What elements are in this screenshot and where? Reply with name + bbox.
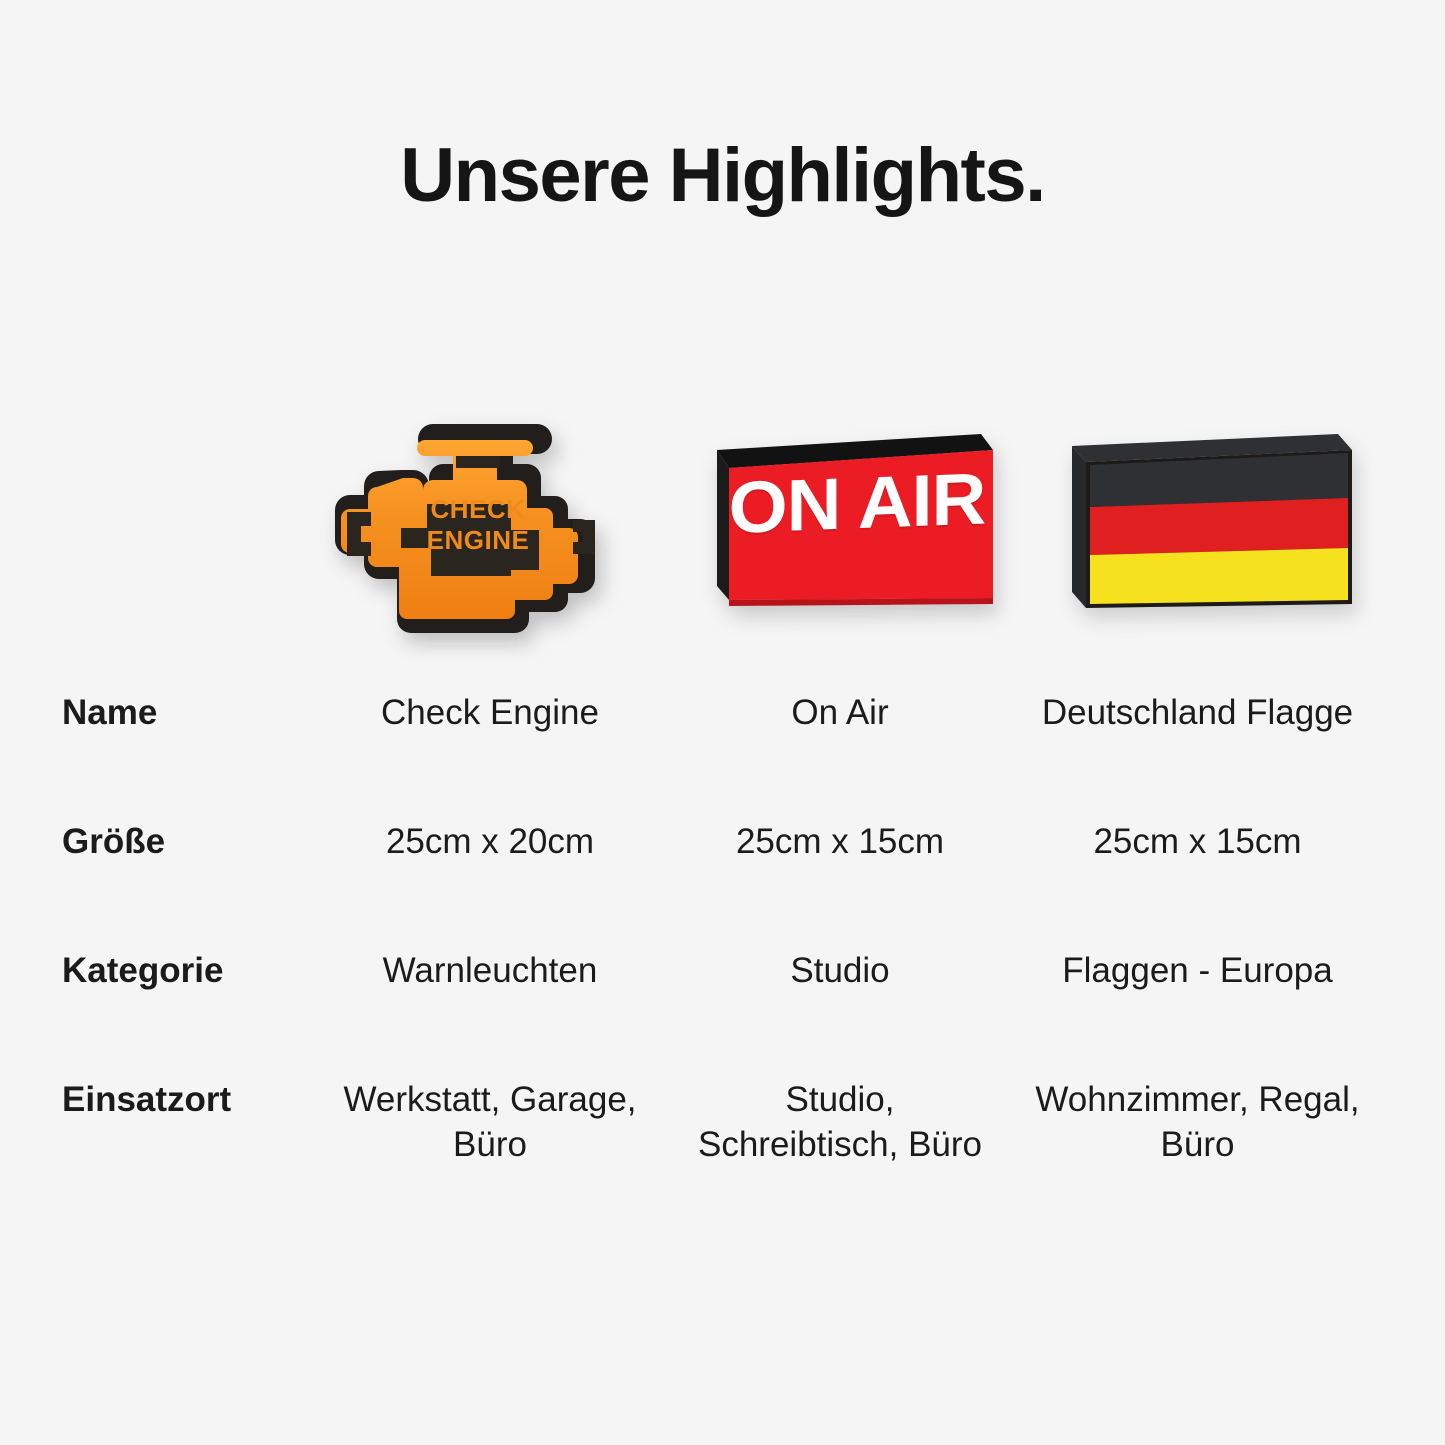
flag-band-gold xyxy=(1090,548,1348,604)
row-value-einsatzort-on-air: Studio, Schreibtisch, Büro xyxy=(690,1077,990,1167)
row-value-name-check-engine: Check Engine xyxy=(330,690,650,735)
row-value-groesse-on-air: 25cm x 15cm xyxy=(690,819,990,864)
germany-flag-box-shape xyxy=(1050,420,1360,630)
row-value-groesse-deutschland-flagge: 25cm x 15cm xyxy=(1020,819,1375,864)
check-engine-lamp-icon: CHECK ENGINE xyxy=(323,408,633,633)
product-image-on-air[interactable]: ON AIR xyxy=(665,400,1015,660)
flag-band-red xyxy=(1090,498,1348,555)
on-air-box-shape xyxy=(685,422,995,627)
table-row-kategorie: Kategorie Warnleuchten Studio Flaggen - … xyxy=(0,948,1445,1077)
row-value-groesse-check-engine: 25cm x 20cm xyxy=(330,819,650,864)
check-engine-shape xyxy=(323,408,633,633)
product-image-row: CHECK ENGINE ON AIR xyxy=(0,400,1445,660)
on-air-lightbox-icon: ON AIR xyxy=(685,422,995,627)
highlights-page: Unsere Highlights. xyxy=(0,0,1445,1445)
row-value-kategorie-check-engine: Warnleuchten xyxy=(330,948,650,993)
product-image-check-engine[interactable]: CHECK ENGINE xyxy=(315,400,665,660)
product-image-deutschland-flagge[interactable] xyxy=(1020,400,1370,660)
table-row-name: Name Check Engine On Air Deutschland Fla… xyxy=(0,690,1445,819)
row-value-einsatzort-check-engine: Werkstatt, Garage, Büro xyxy=(330,1077,650,1167)
row-label-einsatzort: Einsatzort xyxy=(62,1077,362,1122)
row-label-groesse: Größe xyxy=(62,819,362,864)
row-label-kategorie: Kategorie xyxy=(62,948,362,993)
flag-box-left-face xyxy=(1072,446,1086,608)
row-value-kategorie-on-air: Studio xyxy=(690,948,990,993)
germany-flag-lightbox-icon xyxy=(1050,420,1360,630)
table-row-einsatzort: Einsatzort Werkstatt, Garage, Büro Studi… xyxy=(0,1077,1445,1247)
row-label-name: Name xyxy=(62,690,362,735)
row-value-name-deutschland-flagge: Deutschland Flagge xyxy=(1020,690,1375,735)
row-value-einsatzort-deutschland-flagge: Wohnzimmer, Regal, Büro xyxy=(1020,1077,1375,1167)
page-title: Unsere Highlights. xyxy=(0,138,1445,214)
row-value-kategorie-deutschland-flagge: Flaggen - Europa xyxy=(1020,948,1375,993)
spec-comparison-table: Name Check Engine On Air Deutschland Fla… xyxy=(0,690,1445,1247)
table-row-groesse: Größe 25cm x 20cm 25cm x 15cm 25cm x 15c… xyxy=(0,819,1445,948)
row-value-name-on-air: On Air xyxy=(690,690,990,735)
